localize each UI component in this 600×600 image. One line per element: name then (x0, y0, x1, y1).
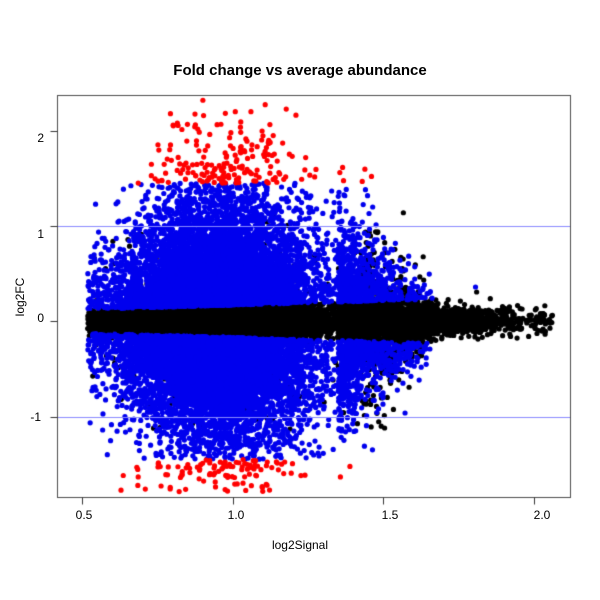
y-tick-label-1: 1 (14, 227, 44, 241)
y-axis-label: log2FC (13, 237, 27, 357)
x-tick-label-3: 2.0 (522, 508, 562, 522)
x-tick-label-0: 0.5 (64, 508, 104, 522)
x-axis-label: log2Signal (0, 538, 600, 552)
y-tick-label-2: 0 (14, 311, 44, 325)
y-tick-label-3: -1 (11, 410, 41, 424)
x-tick-label-2: 1.5 (370, 508, 410, 522)
plot-figure: Fold change vs average abundance log2Sig… (0, 0, 600, 600)
y-tick-label-0: 2 (14, 131, 44, 145)
page-title: Fold change vs average abundance (0, 62, 600, 79)
x-tick-label-1: 1.0 (216, 508, 256, 522)
